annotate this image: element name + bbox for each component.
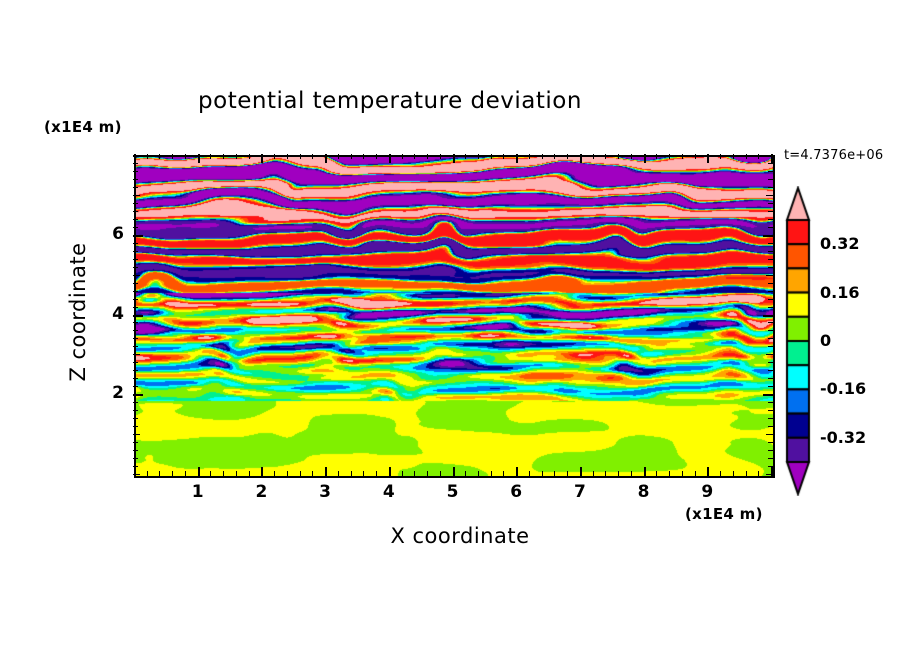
axis-tick <box>133 283 138 284</box>
colorbar <box>783 186 813 500</box>
colorbar-tick-label: -0.16 <box>820 379 866 398</box>
axis-tick <box>133 235 143 237</box>
axis-tick <box>768 386 773 387</box>
axis-tick <box>223 471 224 476</box>
axis-tick <box>768 378 773 379</box>
axis-tick <box>133 434 140 435</box>
axis-tick <box>133 426 138 427</box>
axis-tick <box>682 154 683 159</box>
axis-tick <box>682 471 683 476</box>
axis-tick <box>133 179 138 180</box>
axis-tick <box>133 315 143 317</box>
axis-tick <box>133 378 138 379</box>
axis-tick <box>768 466 773 467</box>
axis-tick <box>210 154 211 159</box>
axis-tick <box>567 471 568 476</box>
axis-tick <box>768 450 773 451</box>
axis-tick <box>133 370 138 371</box>
axis-tick <box>133 195 140 196</box>
axis-tick <box>529 154 530 159</box>
axis-tick <box>133 362 138 363</box>
x-tick-label: 4 <box>369 482 409 502</box>
axis-tick <box>376 471 377 476</box>
x-tick-label: 1 <box>178 482 218 502</box>
axis-tick <box>133 307 138 308</box>
axis-tick <box>414 471 415 476</box>
axis-tick <box>133 187 138 188</box>
axis-tick <box>763 315 773 317</box>
axis-tick <box>300 471 301 476</box>
axis-tick <box>768 171 773 172</box>
axis-tick <box>768 458 773 459</box>
axis-tick <box>720 471 721 476</box>
axis-tick <box>768 426 773 427</box>
axis-tick <box>325 467 327 476</box>
axis-tick <box>147 154 148 159</box>
axis-tick <box>763 235 773 237</box>
axis-tick <box>236 471 237 476</box>
axis-tick <box>133 330 138 331</box>
axis-tick <box>768 163 773 164</box>
axis-tick <box>580 154 582 163</box>
axis-tick <box>516 467 518 476</box>
axis-tick <box>389 154 391 163</box>
axis-tick <box>768 227 773 228</box>
axis-tick <box>768 283 773 284</box>
x-axis-unit-label: (x1E4 m) <box>685 505 763 523</box>
axis-tick <box>768 307 773 308</box>
axis-tick <box>389 467 391 476</box>
axis-tick <box>133 354 140 355</box>
x-tick-label: 6 <box>496 482 536 502</box>
axis-tick <box>768 299 773 300</box>
axis-tick <box>768 211 773 212</box>
axis-tick <box>338 471 339 476</box>
colorbar-tick-label: 0.16 <box>820 283 859 302</box>
axis-tick <box>768 442 773 443</box>
axis-tick <box>766 434 773 435</box>
axis-tick <box>351 471 352 476</box>
axis-tick <box>133 410 138 411</box>
axis-tick <box>605 471 606 476</box>
axis-tick <box>478 471 479 476</box>
axis-tick <box>249 154 250 159</box>
axis-tick <box>503 471 504 476</box>
axis-tick <box>133 291 138 292</box>
axis-tick <box>605 154 606 159</box>
axis-tick <box>133 203 138 204</box>
axis-tick <box>768 402 773 403</box>
axis-tick <box>768 338 773 339</box>
x-tick-label: 7 <box>560 482 600 502</box>
axis-tick <box>631 154 632 159</box>
axis-tick <box>133 394 143 396</box>
colorbar-tick-label: -0.32 <box>820 428 866 447</box>
axis-tick <box>133 466 138 467</box>
axis-tick <box>133 418 138 419</box>
axis-tick <box>746 154 747 159</box>
axis-tick <box>453 154 455 163</box>
colorbar-tick-label: 0 <box>820 331 831 350</box>
axis-tick <box>516 154 518 163</box>
axis-tick <box>768 370 773 371</box>
axis-tick <box>427 471 428 476</box>
axis-tick <box>768 203 773 204</box>
axis-tick <box>363 154 364 159</box>
axis-tick <box>287 154 288 159</box>
axis-tick <box>695 154 696 159</box>
x-tick-label: 2 <box>241 482 281 502</box>
axis-tick <box>766 195 773 196</box>
axis-tick <box>210 471 211 476</box>
axis-tick <box>133 219 138 220</box>
axis-tick <box>707 467 709 476</box>
axis-tick <box>618 471 619 476</box>
axis-tick <box>656 154 657 159</box>
axis-tick <box>768 187 773 188</box>
axis-tick <box>465 154 466 159</box>
x-tick-label: 5 <box>433 482 473 502</box>
axis-tick <box>185 471 186 476</box>
axis-tick <box>720 154 721 159</box>
axis-tick <box>644 467 646 476</box>
axis-tick <box>766 474 773 475</box>
axis-tick <box>338 154 339 159</box>
x-tick-label: 3 <box>305 482 345 502</box>
axis-tick <box>300 154 301 159</box>
axis-tick <box>198 154 200 163</box>
axis-tick <box>133 386 138 387</box>
axis-tick <box>669 154 670 159</box>
axis-tick <box>133 338 138 339</box>
y-tick-label: 4 <box>100 304 124 324</box>
colorbar-tick-label: 0.32 <box>820 234 859 253</box>
axis-tick <box>133 275 140 276</box>
axis-tick <box>766 275 773 276</box>
page-title: potential temperature deviation <box>0 88 780 114</box>
axis-tick <box>159 154 160 159</box>
axis-tick <box>758 154 759 159</box>
axis-tick <box>133 171 138 172</box>
axis-tick <box>768 259 773 260</box>
axis-tick <box>133 211 138 212</box>
axis-tick <box>580 467 582 476</box>
axis-tick <box>644 154 646 163</box>
axis-tick <box>133 474 140 475</box>
axis-tick <box>223 154 224 159</box>
axis-tick <box>402 154 403 159</box>
axis-tick <box>491 154 492 159</box>
contour-plot-figure: potential temperature deviation (x1E4 m)… <box>0 0 904 654</box>
axis-tick <box>768 267 773 268</box>
axis-tick <box>733 471 734 476</box>
axis-tick <box>529 471 530 476</box>
axis-tick <box>159 471 160 476</box>
axis-tick <box>768 219 773 220</box>
axis-tick <box>768 251 773 252</box>
axis-tick <box>172 154 173 159</box>
axis-tick <box>768 418 773 419</box>
axis-tick <box>768 346 773 347</box>
axis-tick <box>746 471 747 476</box>
axis-tick <box>758 471 759 476</box>
axis-tick <box>249 471 250 476</box>
axis-tick <box>133 259 138 260</box>
axis-tick <box>147 471 148 476</box>
axis-tick <box>376 154 377 159</box>
axis-tick <box>542 154 543 159</box>
axis-tick <box>542 471 543 476</box>
axis-tick <box>768 410 773 411</box>
axis-tick <box>503 154 504 159</box>
axis-tick <box>133 163 138 164</box>
axis-tick <box>593 471 594 476</box>
axis-tick <box>707 154 709 163</box>
axis-tick <box>768 179 773 180</box>
axis-tick <box>312 154 313 159</box>
x-tick-label: 8 <box>624 482 664 502</box>
axis-tick <box>567 154 568 159</box>
axis-tick <box>133 267 138 268</box>
axis-tick <box>274 471 275 476</box>
x-axis-title: X coordinate <box>280 524 640 548</box>
axis-tick <box>133 299 138 300</box>
axis-tick <box>402 471 403 476</box>
axis-tick <box>695 471 696 476</box>
axis-tick <box>768 322 773 323</box>
axis-tick <box>593 154 594 159</box>
axis-tick <box>763 394 773 396</box>
axis-tick <box>453 467 455 476</box>
axis-tick <box>669 471 670 476</box>
axis-tick <box>185 154 186 159</box>
axis-tick <box>427 154 428 159</box>
axis-tick <box>274 154 275 159</box>
timestamp-annotation: t=4.7376e+06 <box>784 148 883 163</box>
y-axis-title: Z coordinate <box>66 212 90 412</box>
axis-tick <box>351 154 352 159</box>
axis-tick <box>768 330 773 331</box>
axis-tick <box>491 471 492 476</box>
axis-tick <box>133 251 138 252</box>
axis-tick <box>478 154 479 159</box>
plot-area <box>134 155 775 478</box>
axis-tick <box>440 154 441 159</box>
axis-tick <box>618 154 619 159</box>
axis-tick <box>325 154 327 163</box>
y-tick-label: 2 <box>100 383 124 403</box>
axis-tick <box>133 458 138 459</box>
axis-tick <box>733 154 734 159</box>
axis-tick <box>133 322 138 323</box>
axis-tick <box>133 346 138 347</box>
y-axis-unit-label: (x1E4 m) <box>44 118 122 136</box>
axis-tick <box>554 154 555 159</box>
axis-tick <box>198 467 200 476</box>
axis-tick <box>133 402 138 403</box>
axis-tick <box>631 471 632 476</box>
x-tick-label: 9 <box>687 482 727 502</box>
axis-tick <box>261 154 263 163</box>
axis-tick <box>133 450 138 451</box>
axis-tick <box>261 467 263 476</box>
axis-tick <box>766 354 773 355</box>
axis-tick <box>763 155 773 157</box>
axis-tick <box>172 471 173 476</box>
axis-tick <box>465 471 466 476</box>
axis-tick <box>133 227 138 228</box>
axis-tick <box>656 471 657 476</box>
axis-tick <box>133 155 143 157</box>
axis-tick <box>768 243 773 244</box>
axis-tick <box>312 471 313 476</box>
axis-tick <box>133 243 138 244</box>
axis-tick <box>287 471 288 476</box>
axis-tick <box>440 471 441 476</box>
colorbar-canvas <box>783 186 813 496</box>
axis-tick <box>363 471 364 476</box>
axis-tick <box>236 154 237 159</box>
y-tick-label: 6 <box>100 224 124 244</box>
contour-field-canvas <box>136 157 773 476</box>
axis-tick <box>768 362 773 363</box>
axis-tick <box>768 291 773 292</box>
axis-tick <box>554 471 555 476</box>
axis-tick <box>133 442 138 443</box>
axis-tick <box>414 154 415 159</box>
